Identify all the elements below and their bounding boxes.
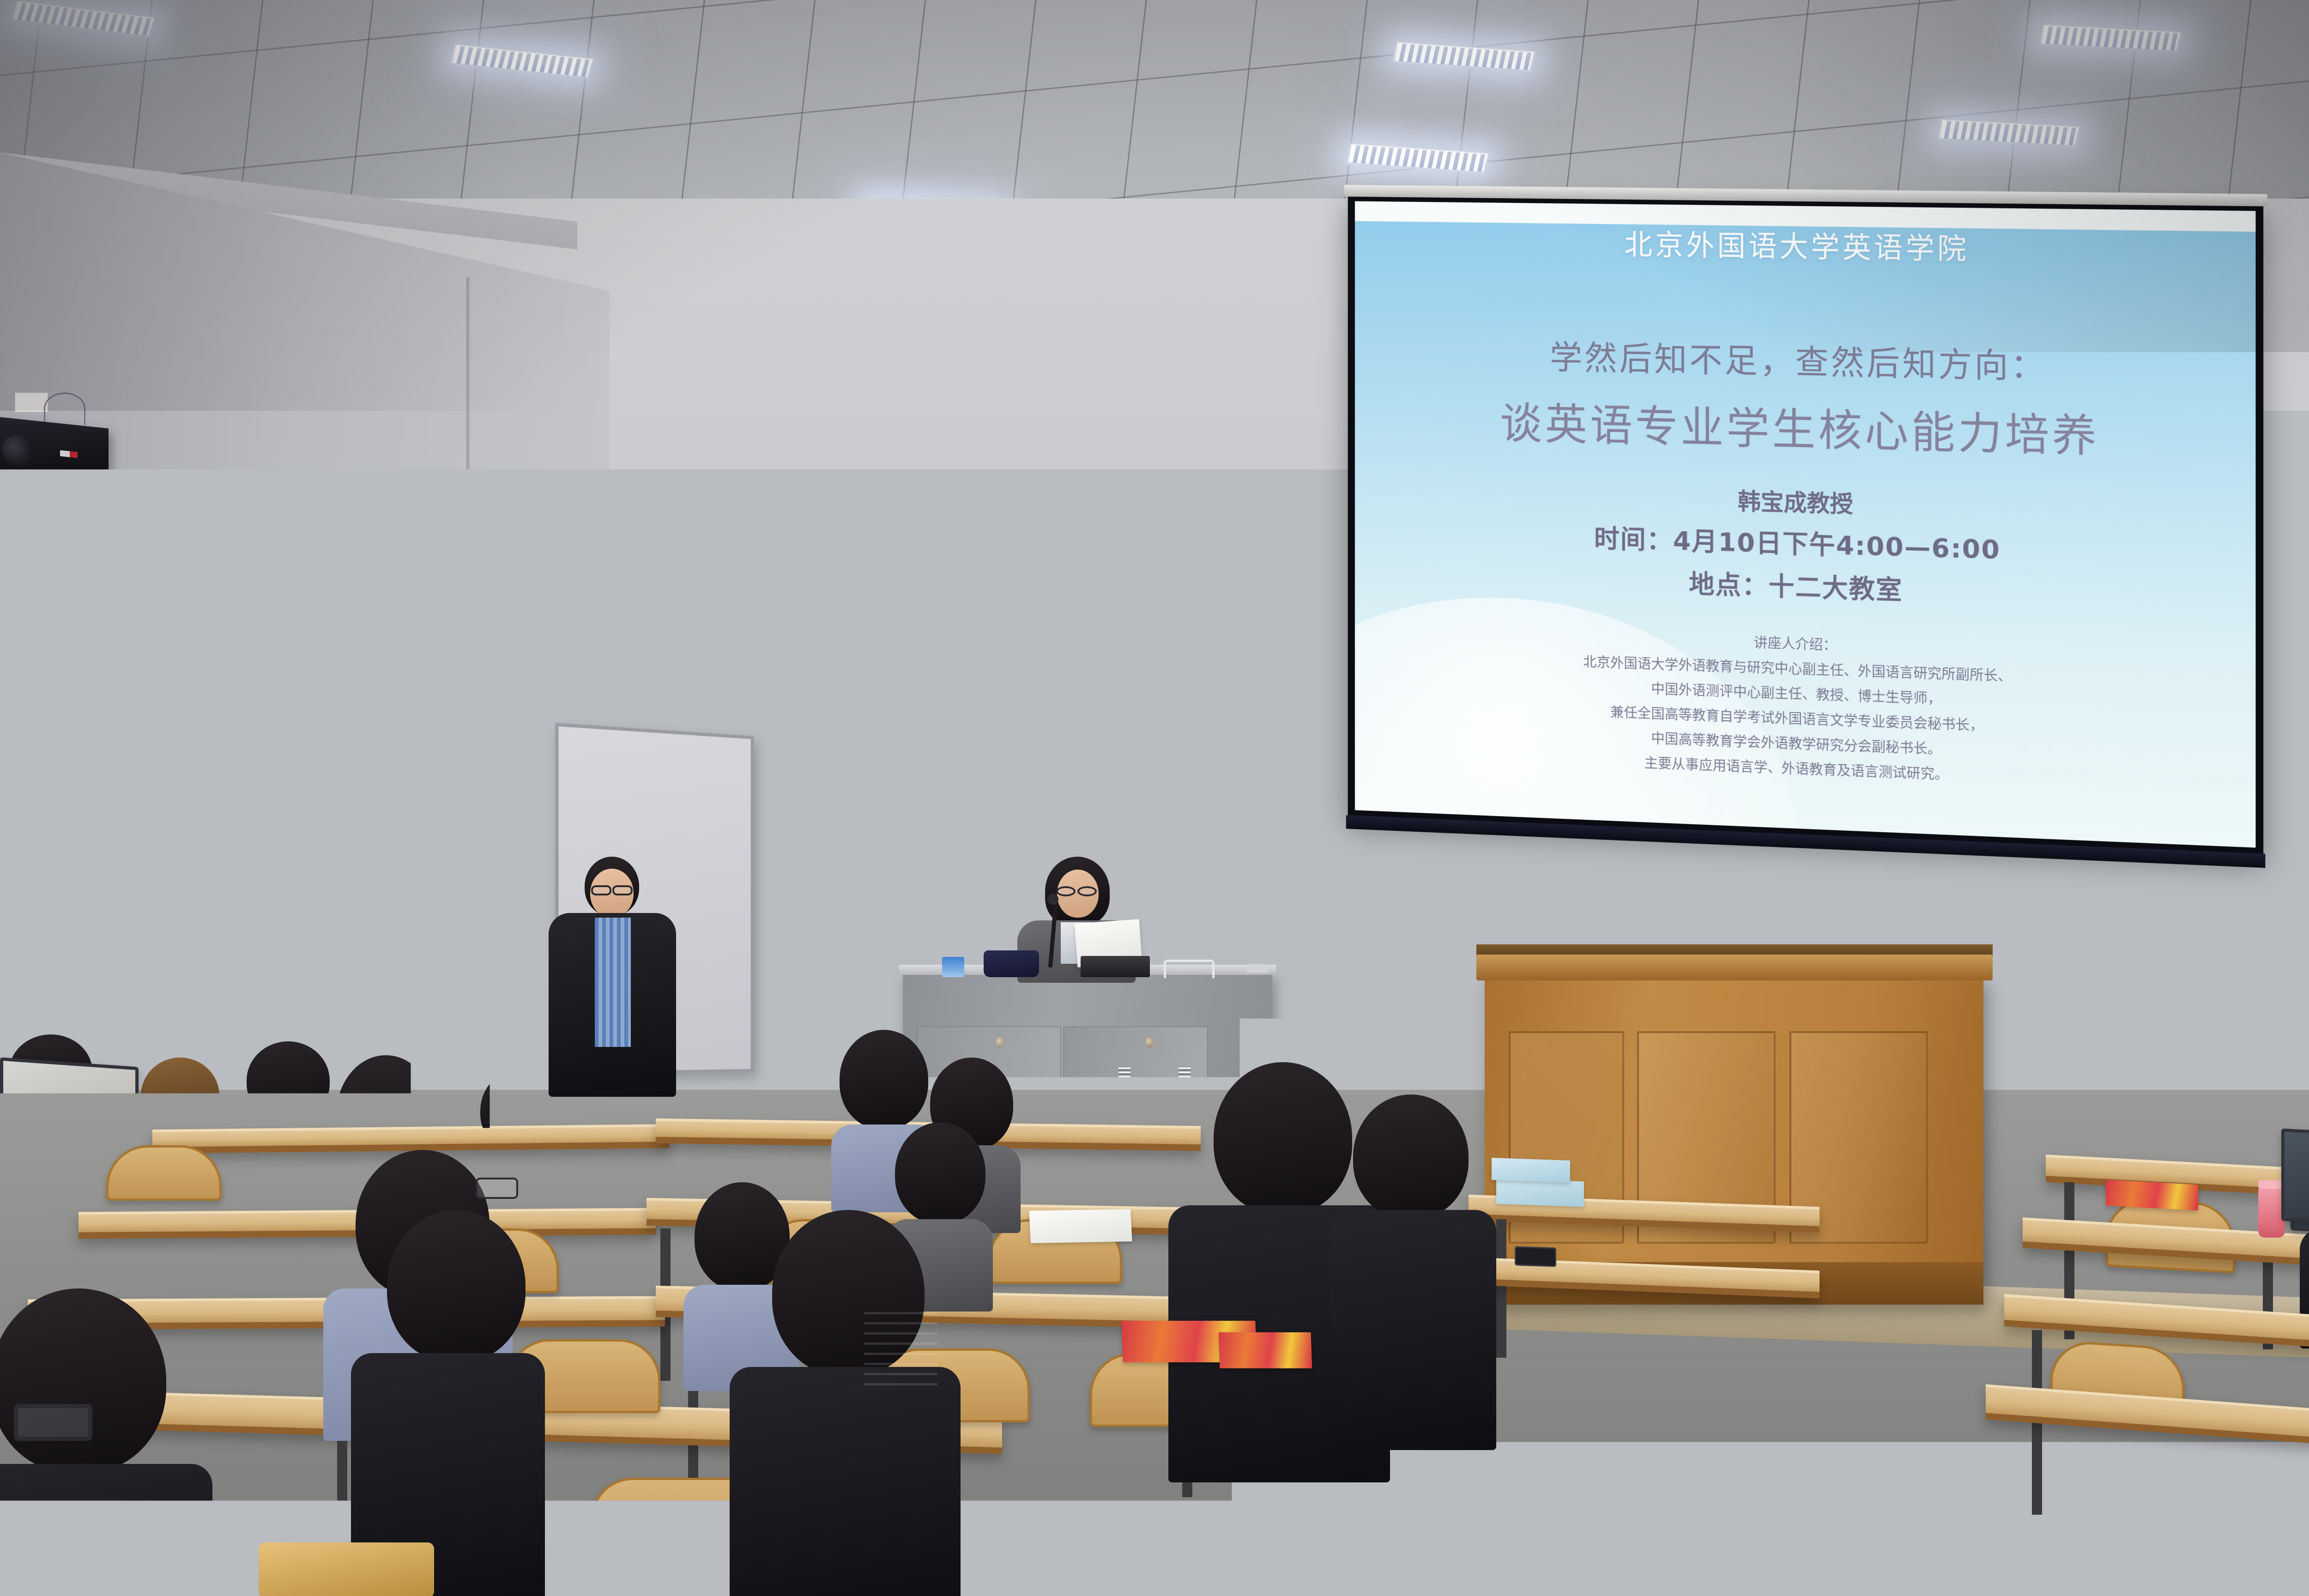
speaker-cable <box>44 393 85 425</box>
slide-time-line: 时间：4月10日下午4:00—6:00 <box>1594 518 2001 566</box>
presenter-remote[interactable] <box>1247 964 1268 973</box>
student-foreground-bottom-left <box>0 1288 212 1596</box>
student-foreground-center <box>730 1210 961 1596</box>
student-hair <box>895 1122 985 1224</box>
student-hair <box>141 1058 219 1134</box>
wall-outlet-plate <box>15 393 48 412</box>
ac-control-panel[interactable] <box>435 941 491 962</box>
student-hair <box>387 1210 526 1362</box>
student-list-item <box>240 1041 337 1171</box>
slide-place-line: 地点：十二大教室 <box>1689 563 1903 607</box>
slide-title-line-1: 学然后知不足，查然后知方向： <box>1500 329 2099 389</box>
brochure[interactable] <box>2106 1180 2198 1210</box>
notebook[interactable] <box>1492 1158 1570 1183</box>
microphone-icon[interactable] <box>1047 894 1058 905</box>
student-foreground-right-2 <box>1330 1094 1496 1445</box>
wall-mounted-speaker <box>0 417 109 498</box>
glasses-icon <box>14 1404 92 1441</box>
student-foreground-dark-left <box>351 1210 545 1596</box>
slide-bio-line: 北京外国语大学外语教育与研究中心副主任、外国语言研究所副所长、 <box>1583 650 2012 685</box>
podium-desk-items <box>942 951 1265 979</box>
student-hair <box>0 1288 166 1473</box>
wooden-lectern[interactable] <box>1485 977 1983 1305</box>
speaker-cone-icon <box>2 434 33 469</box>
notebook[interactable] <box>1496 1179 1584 1207</box>
handbag[interactable] <box>984 950 1039 977</box>
console-lock-icon[interactable] <box>996 1037 1004 1047</box>
slide-title-block: 学然后知不足，查然后知方向： 谈英语专业学生核心能力培养 <box>1500 329 2099 465</box>
radiator-fins <box>187 880 399 1018</box>
speaker-brand-logo <box>60 450 78 458</box>
notebook[interactable] <box>1029 1209 1132 1243</box>
projection-screen: 北京外国语大学英语学院 学然后知不足，查然后知方向： 谈英语专业学生核心能力培养… <box>1348 194 2264 856</box>
student-jacket <box>730 1367 961 1596</box>
laptop[interactable] <box>2281 1129 2309 1227</box>
glasses-icon <box>612 885 633 895</box>
wall-radiator <box>187 880 399 1018</box>
student-jacket <box>0 1464 212 1596</box>
mic-holder[interactable] <box>1164 960 1215 978</box>
console-vent-slots <box>1118 1067 1130 1131</box>
standing-man-checked-shirt <box>595 918 631 1047</box>
slide-organization-title: 北京外国语大学英语学院 <box>1624 222 1969 268</box>
equipment-box[interactable] <box>1081 956 1150 977</box>
jacket-print-detail <box>864 1307 937 1385</box>
water-bottle[interactable] <box>942 957 964 977</box>
glasses-icon <box>416 1078 443 1091</box>
standing-man <box>545 857 679 1097</box>
ac-air-outlet-grille <box>425 867 517 923</box>
console-lock-icon[interactable] <box>1145 1037 1154 1047</box>
presentation-slide: 北京外国语大学英语学院 学然后知不足，查然后知方向： 谈英语专业学生核心能力培养… <box>1355 201 2256 848</box>
glasses-icon <box>476 1178 518 1199</box>
glasses-icon <box>596 1231 641 1253</box>
desk-leg <box>1496 1219 1506 1358</box>
student-hair <box>247 1041 330 1120</box>
slide-title-line-2: 谈英语专业学生核心能力培养 <box>1500 389 2099 465</box>
laptop[interactable] <box>0 1111 152 1268</box>
glasses-icon <box>1056 886 1076 896</box>
wall-device-box <box>2027 963 2060 973</box>
blackboard-eraser[interactable] <box>2254 967 2286 974</box>
student-hair <box>480 1069 561 1152</box>
brochure[interactable] <box>1219 1332 1312 1368</box>
smartphone[interactable] <box>1515 1246 1556 1267</box>
water-bottle[interactable] <box>277 1168 314 1242</box>
chair-back[interactable] <box>1335 986 1455 1046</box>
student-hair <box>657 1090 740 1180</box>
bottle-cap <box>277 1162 314 1170</box>
desk-surface-foreground <box>259 1542 434 1596</box>
student-jacket <box>1330 1210 1496 1450</box>
glasses-icon <box>591 885 611 895</box>
student-hair <box>1353 1094 1469 1219</box>
slide-speaker-name: 韩宝成教授 <box>1738 483 1853 519</box>
glasses-icon <box>1077 886 1097 896</box>
ac-energy-label <box>508 938 519 971</box>
slide-bio-heading: 讲座人介绍： <box>1754 631 1837 654</box>
lecture-hall-photograph: 北京外国语大学英语学院 学然后知不足，查然后知方向： 谈英语专业学生核心能力培养… <box>0 0 2309 1596</box>
lectern-cap-moulding <box>1476 955 1993 980</box>
student-hair <box>840 1030 928 1129</box>
